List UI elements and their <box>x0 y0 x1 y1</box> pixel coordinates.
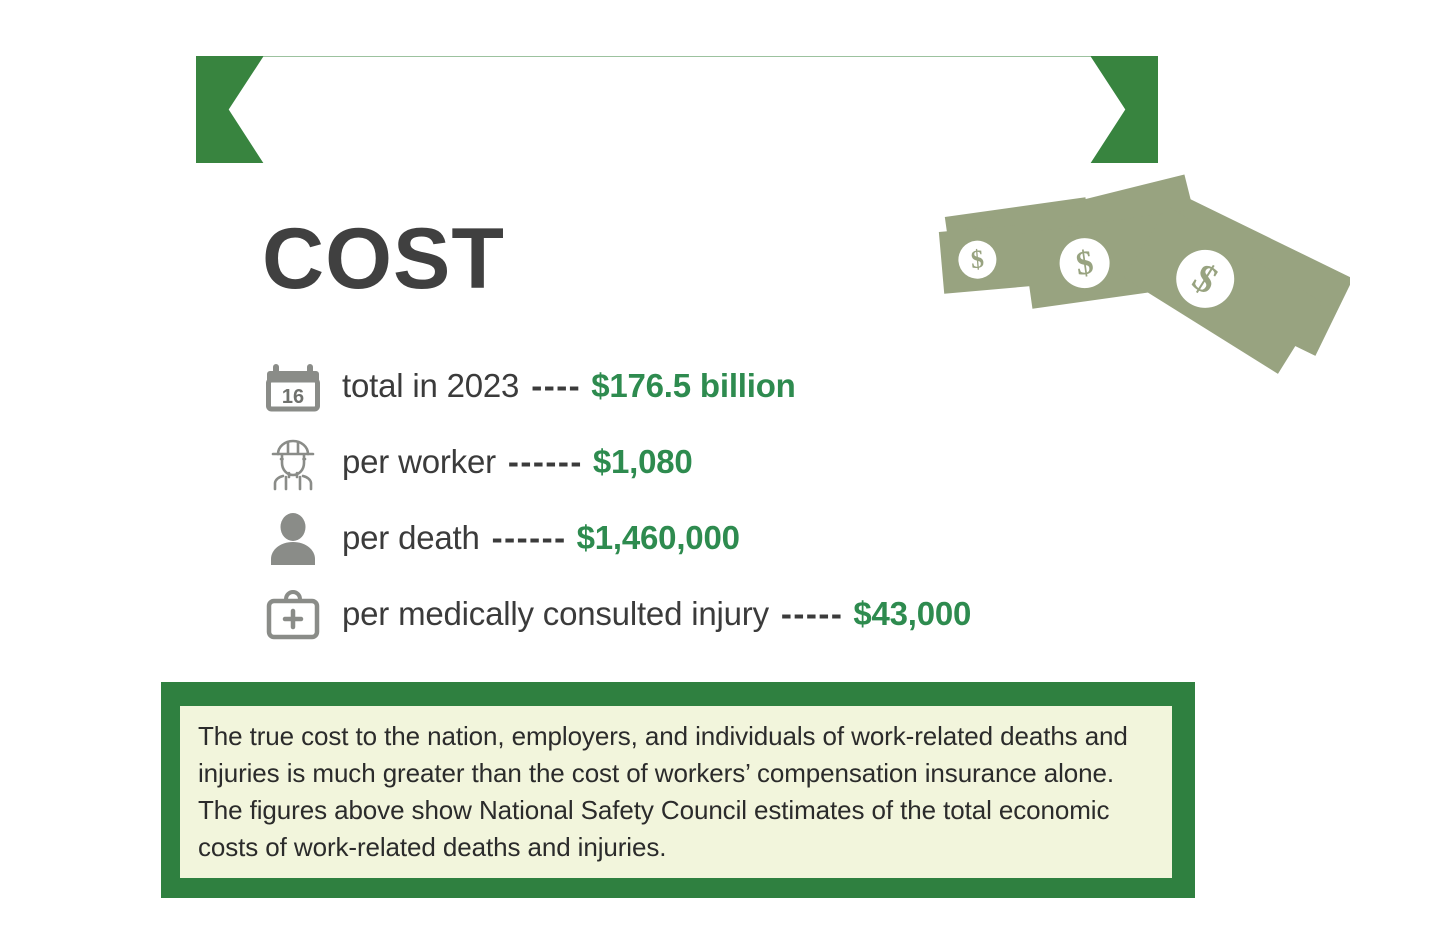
stat-dash-connector: ------ <box>492 519 567 557</box>
footnote-box: The true cost to the nation, employers, … <box>161 682 1195 898</box>
stat-value: $1,080 <box>593 443 693 481</box>
person-silhouette-icon <box>262 507 324 569</box>
first-aid-kit-icon <box>262 583 324 645</box>
stat-row: 16 total in 2023 ---- $176.5 billion <box>262 348 1162 424</box>
calendar-icon: 16 <box>262 355 324 417</box>
stat-value: $1,460,000 <box>577 519 740 557</box>
hard-hat-worker-icon <box>262 431 324 493</box>
stat-dash-connector: ----- <box>781 595 843 633</box>
page-title: COST <box>262 216 505 302</box>
stat-dash-connector: ---- <box>531 367 581 405</box>
stat-dash-connector: ------ <box>508 443 583 481</box>
stat-row: per medically consulted injury ----- $43… <box>262 576 1162 652</box>
banner-title: Work Injury Costs - 2023 <box>196 56 1158 163</box>
stat-label: per medically consulted injury <box>342 595 769 633</box>
stat-label: total in 2023 <box>342 367 519 405</box>
stat-value: $176.5 billion <box>591 367 795 405</box>
footnote-text: The true cost to the nation, employers, … <box>180 718 1172 866</box>
banner: Work Injury Costs - 2023 <box>196 56 1158 163</box>
stat-label: per death <box>342 519 480 557</box>
cost-statistics-list: 16 total in 2023 ---- $176.5 billion <box>262 348 1162 652</box>
footnote-inner-panel: The true cost to the nation, employers, … <box>180 706 1172 878</box>
stat-row: per death ------ $1,460,000 <box>262 500 1162 576</box>
stat-label: per worker <box>342 443 496 481</box>
stat-row: per worker ------ $1,080 <box>262 424 1162 500</box>
svg-text:$: $ <box>970 244 985 274</box>
calendar-day-number: 16 <box>282 386 304 408</box>
work-injury-costs-infographic: Work Injury Costs - 2023 COST $ <box>0 0 1440 938</box>
stat-value: $43,000 <box>853 595 971 633</box>
